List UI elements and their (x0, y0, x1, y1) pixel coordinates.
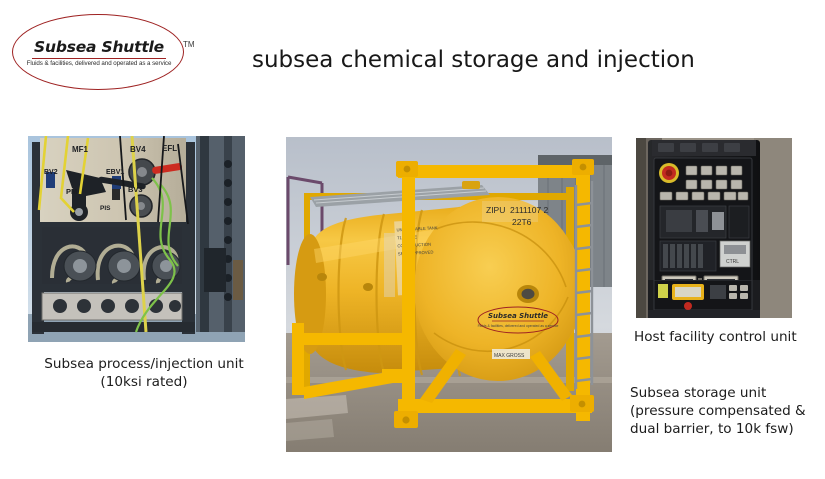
svg-text:2111107 2: 2111107 2 (510, 205, 549, 215)
caption-subsea-storage-unit: Subsea storage unit (pressure compensate… (630, 385, 825, 439)
caption-host-facility-control-unit: Host facility control unit (634, 329, 824, 347)
svg-text:PIS: PIS (100, 205, 111, 212)
svg-text:Fluids & facilities, delivered: Fluids & facilities, delivered and opera… (478, 324, 559, 328)
svg-text:PM: PM (66, 187, 77, 196)
svg-text:MAX GROSS: MAX GROSS (494, 353, 525, 359)
caption-line: dual barrier, to 10k fsw) (630, 421, 825, 439)
svg-text:BV4: BV4 (130, 145, 146, 154)
logo-wordmark: Subsea Shuttle (28, 38, 170, 56)
caption-subsea-process-injection-unit: Subsea process/injection unit (10ksi rat… (8, 356, 280, 392)
logo-block: Subsea Shuttle Fluids & facilities, deli… (12, 14, 222, 92)
svg-text:22T6: 22T6 (512, 217, 532, 227)
trademark-symbol: TM (183, 40, 195, 49)
svg-text:Subsea Shuttle: Subsea Shuttle (488, 312, 548, 320)
subsea-process-injection-unit-photo: BV2 MF1 BV4 EFL EBV1 BV3 PM PIS (28, 136, 245, 342)
logo-tagline: Fluids & facilities, delivered and opera… (22, 60, 176, 67)
caption-line: (10ksi rated) (8, 374, 280, 392)
svg-text:MF1: MF1 (72, 145, 89, 154)
caption-line: Host facility control unit (634, 329, 824, 347)
svg-text:EBV1: EBV1 (106, 169, 124, 176)
svg-text:BV3: BV3 (128, 185, 143, 194)
caption-line: Subsea storage unit (630, 385, 825, 403)
caption-line: (pressure compensated & (630, 403, 825, 421)
svg-text:BV2: BV2 (44, 169, 58, 176)
svg-text:CTRL: CTRL (726, 259, 739, 265)
svg-text:EFL: EFL (162, 144, 177, 153)
subsea-storage-unit-photo: Subsea Shuttle Fluids & facilities, deli… (286, 137, 612, 452)
host-facility-control-unit-lower-panel (636, 280, 792, 318)
svg-text:ZIPU: ZIPU (486, 205, 505, 215)
slide-title: subsea chemical storage and injection (252, 47, 695, 73)
caption-line: Subsea process/injection unit (8, 356, 280, 374)
